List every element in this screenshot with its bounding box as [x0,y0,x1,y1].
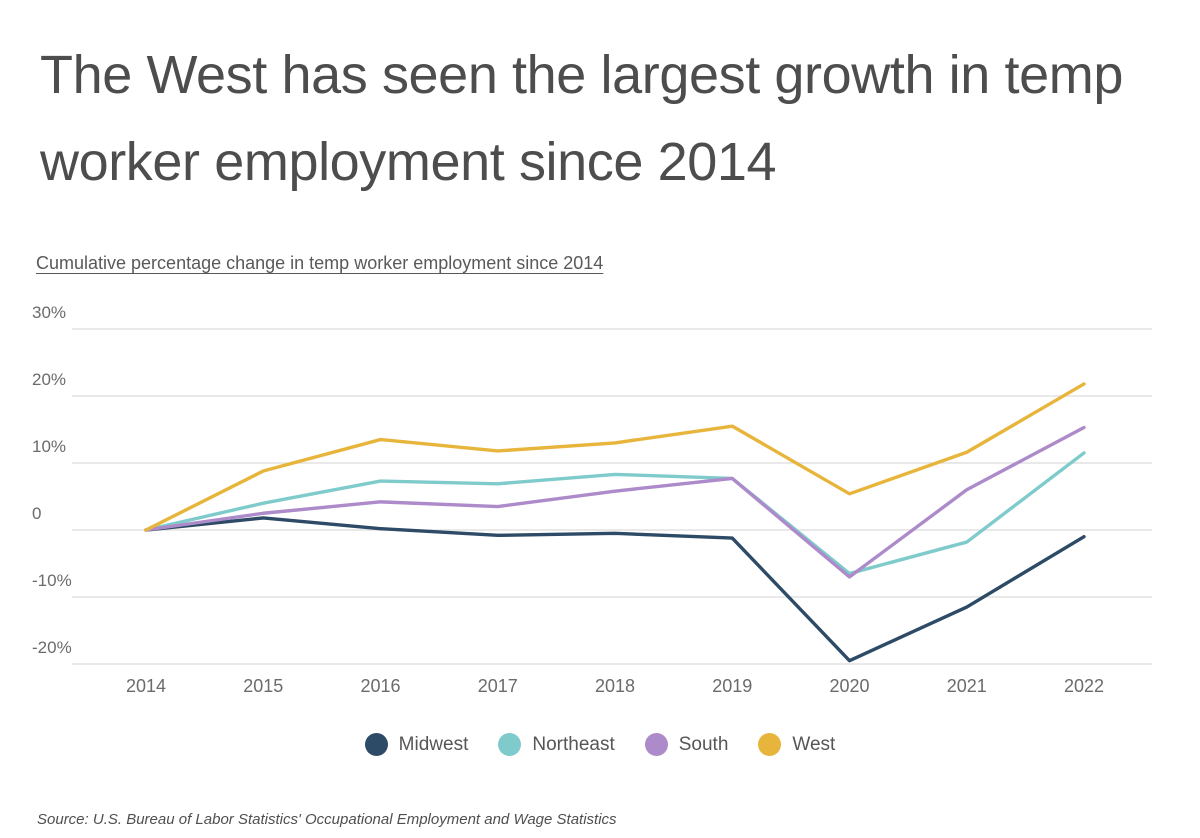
source-note: Source: U.S. Bureau of Labor Statistics'… [37,811,617,828]
legend-item-midwest[interactable]: Midwest [365,733,469,756]
y-axis-label--10%: -10% [32,571,72,590]
x-axis-label-2019: 2019 [712,676,752,696]
x-axis-label-2015: 2015 [243,676,283,696]
series-line-west[interactable] [146,384,1084,530]
x-axis-label-2020: 2020 [829,676,869,696]
series-line-south[interactable] [146,427,1084,576]
x-axis-label-2021: 2021 [947,676,987,696]
legend-item-south[interactable]: South [645,733,729,756]
chart-legend: MidwestNortheastSouthWest [0,733,1200,756]
legend-item-northeast[interactable]: Northeast [498,733,614,756]
legend-swatch-northeast [498,733,521,756]
legend-swatch-west [758,733,781,756]
y-axis-label--20%: -20% [32,638,72,657]
y-axis-label-20%: 20% [32,370,66,389]
legend-label-northeast: Northeast [532,734,614,756]
legend-label-midwest: Midwest [399,734,469,756]
chart-page: The West has seen the largest growth in … [0,0,1200,838]
y-axis-label-0: 0 [32,504,41,523]
series-line-northeast[interactable] [146,453,1084,574]
x-axis-label-2017: 2017 [478,676,518,696]
legend-label-west: West [792,734,835,756]
page-title: The West has seen the largest growth in … [40,32,1170,207]
series-line-midwest[interactable] [146,518,1084,661]
x-axis-label-2018: 2018 [595,676,635,696]
legend-swatch-south [645,733,668,756]
legend-item-west[interactable]: West [758,733,835,756]
legend-swatch-midwest [365,733,388,756]
x-axis-label-2022: 2022 [1064,676,1104,696]
y-axis-label-10%: 10% [32,437,66,456]
chart-subtitle: Cumulative percentage change in temp wor… [36,253,603,274]
y-axis-label-30%: 30% [32,303,66,322]
legend-label-south: South [679,734,729,756]
x-axis-label-2014: 2014 [126,676,166,696]
x-axis-label-2016: 2016 [360,676,400,696]
